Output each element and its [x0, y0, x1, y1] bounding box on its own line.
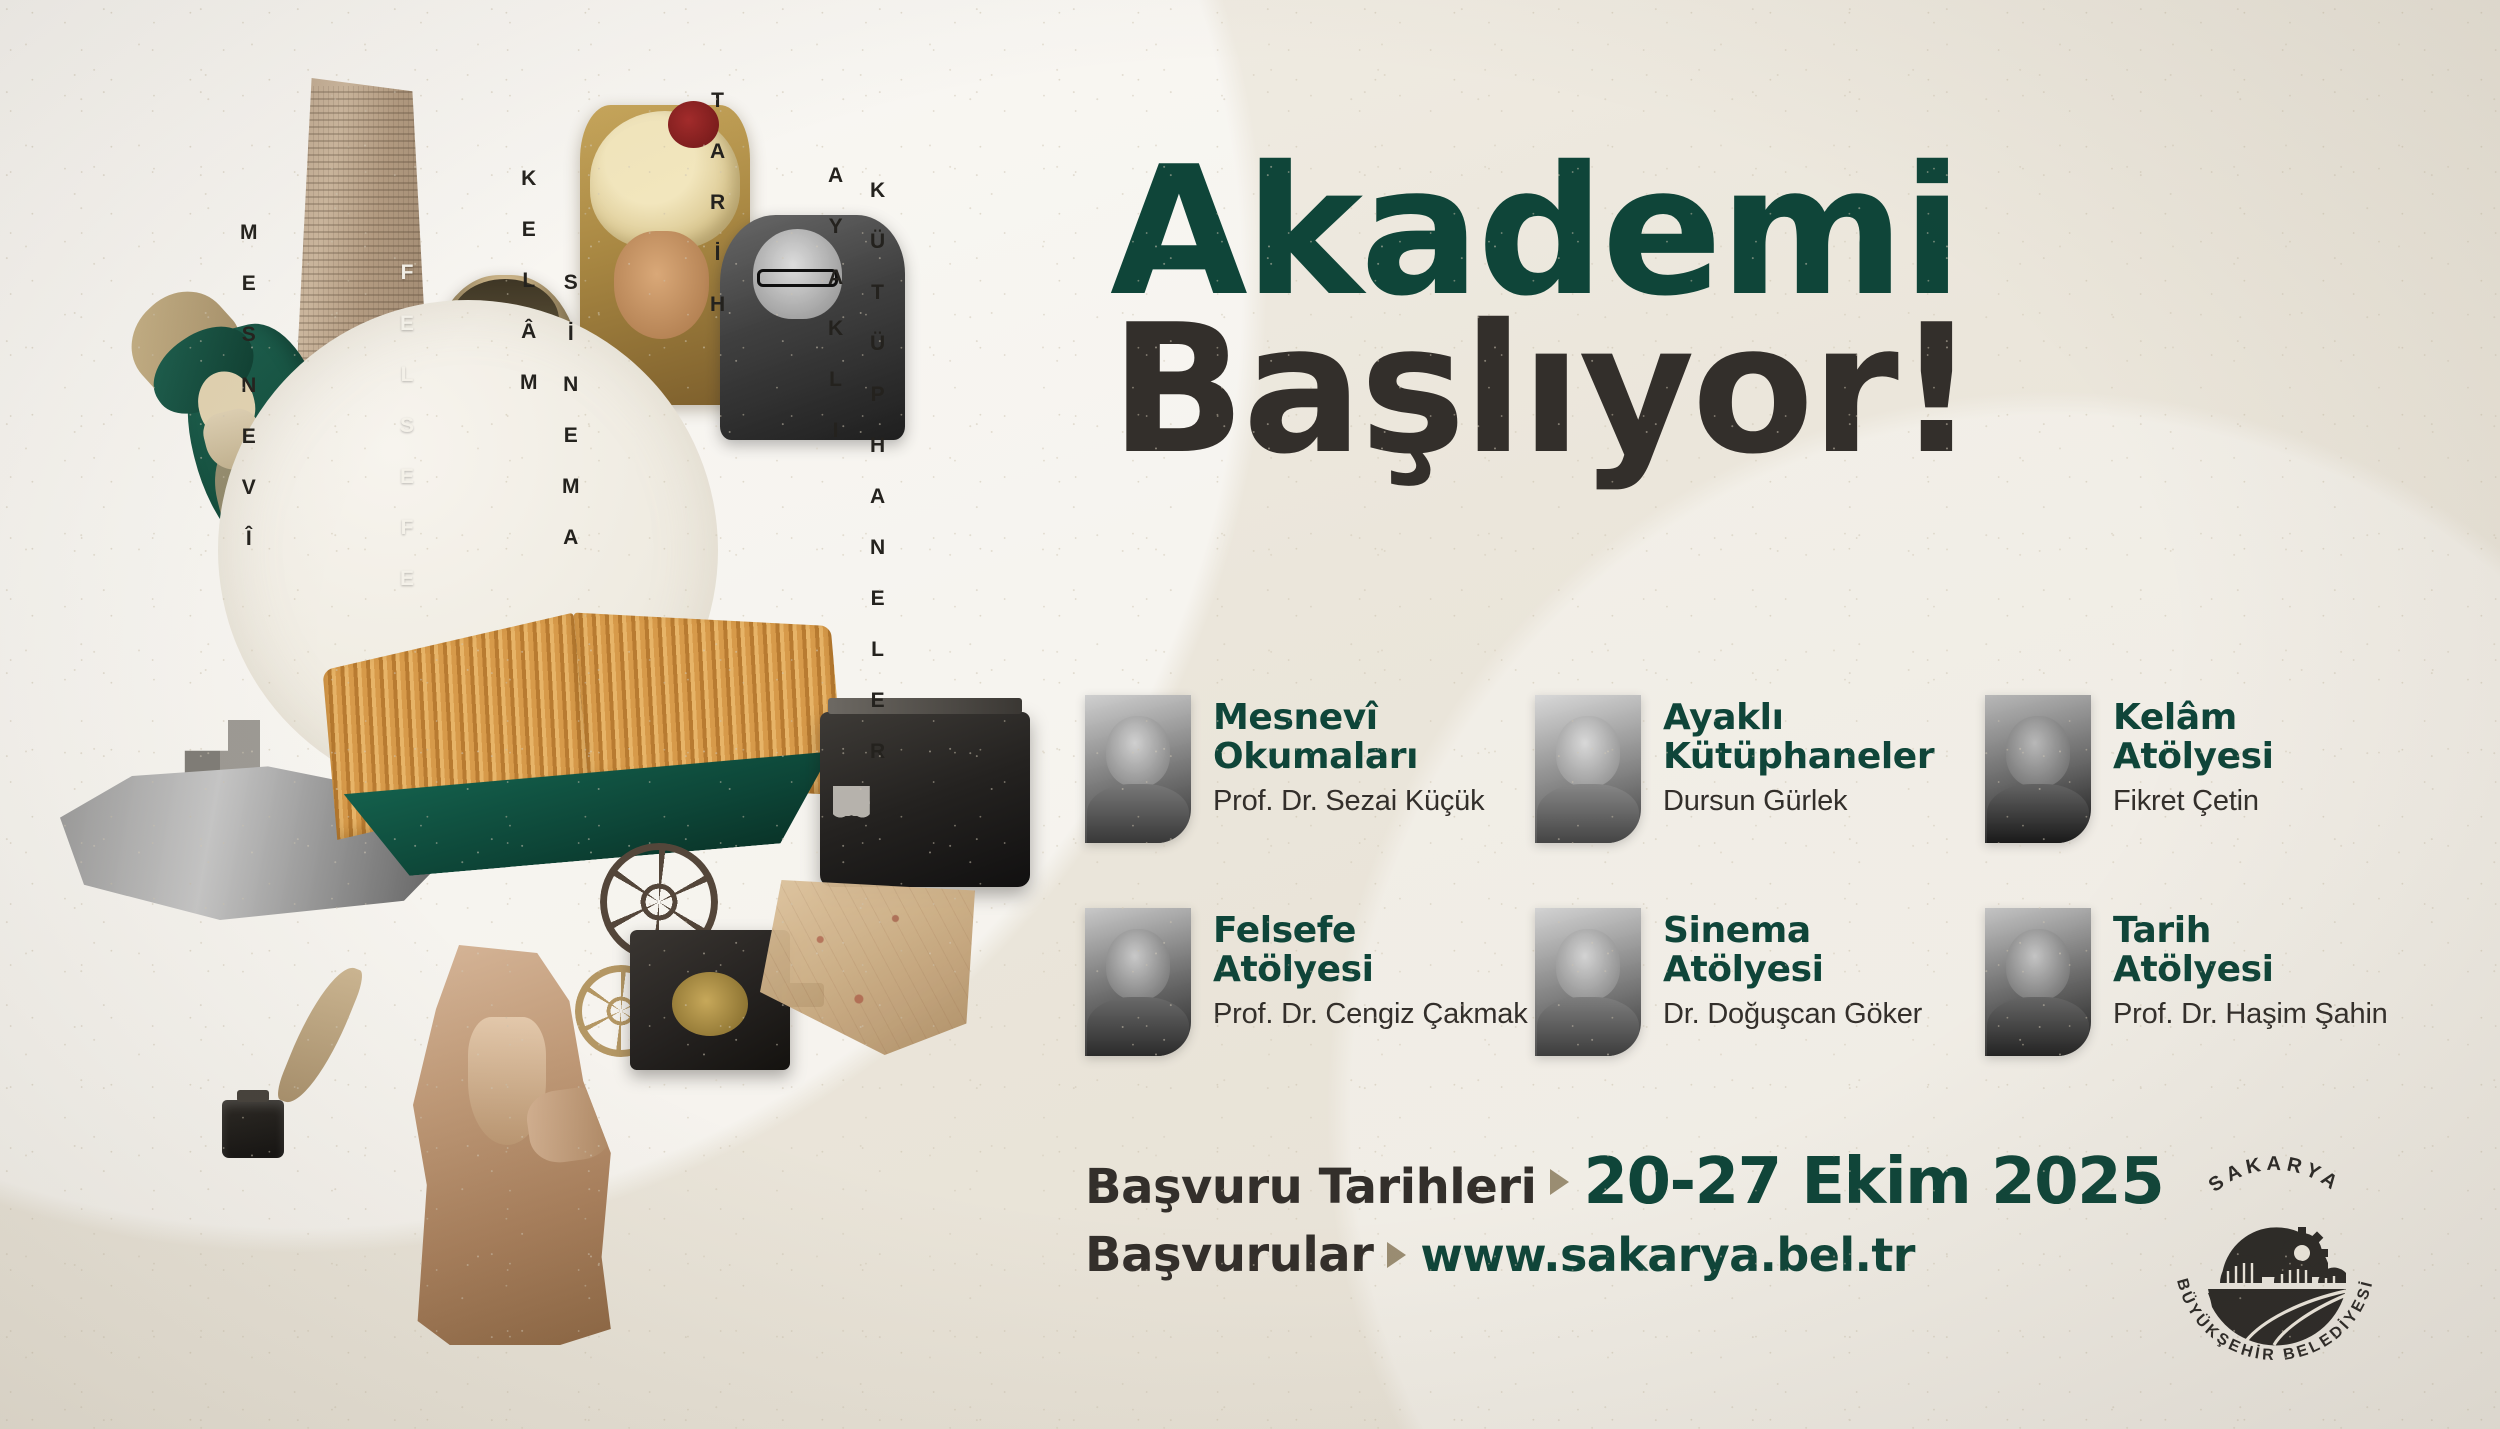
collage-letter: K: [521, 168, 537, 189]
open-book-image: [321, 608, 849, 882]
collage-letter: E: [564, 425, 579, 446]
arrow-right-icon: [1550, 1169, 1569, 1195]
collage-letter: L: [871, 639, 884, 660]
collage-letter: E: [871, 588, 886, 609]
application-dates-label: Başvuru Tarihleri: [1085, 1159, 1536, 1215]
collage-label-kelam: KELÂM: [520, 168, 538, 423]
application-url-row: Başvurular www.sakarya.bel.tr: [1085, 1227, 2185, 1283]
poster-canvas: و MESNEVÎ FELSEFE KELÂM SİNEMA TARİH: [0, 0, 2500, 1429]
antique-map-image: [760, 880, 975, 1055]
speaker-text: Kelâm AtölyesiFikret Çetin: [2113, 695, 2274, 818]
speaker-card[interactable]: Mesnevî OkumalarıProf. Dr. Sezai Küçük: [1085, 695, 1535, 908]
speaker-photo: [1985, 695, 2091, 843]
speaker-text: Felsefe AtölyesiProf. Dr. Cengiz Çakmak: [1213, 908, 1528, 1031]
speaker-head-shape: [2006, 929, 2070, 1000]
collage-letter: L: [522, 270, 535, 291]
speaker-workshop-title: Sinema Atölyesi: [1663, 912, 1922, 989]
collage-letter: F: [401, 517, 414, 538]
speaker-head-shape: [1556, 929, 1620, 1000]
collage-letter: K: [870, 180, 886, 201]
collage-letter: S: [400, 415, 415, 436]
speaker-text: Ayaklı KütüphanelerDursun Gürlek: [1663, 695, 1934, 818]
collage-letter: H: [710, 294, 726, 315]
collage-letter: A: [828, 165, 844, 186]
svg-text:SAKARYA: SAKARYA: [2205, 1153, 2346, 1197]
speaker-card[interactable]: Sinema AtölyesiDr. Doğuşcan Göker: [1535, 908, 1985, 1121]
speaker-body-shape: [1087, 784, 1189, 843]
collage-letter: E: [522, 219, 537, 240]
collage-letter: I: [833, 420, 839, 441]
speaker-workshop-title: Tarih Atölyesi: [2113, 912, 2388, 989]
collage-letter: İ: [568, 323, 574, 344]
collage-label-ayakli: AYAKLI: [828, 165, 844, 471]
speaker-body-shape: [1087, 997, 1189, 1056]
collage-label-felsefe: FELSEFE: [400, 262, 415, 619]
speaker-photo: [1085, 695, 1191, 843]
collage-letter: M: [520, 372, 538, 393]
speaker-card[interactable]: Ayaklı KütüphanelerDursun Gürlek: [1535, 695, 1985, 908]
applications-url[interactable]: www.sakarya.bel.tr: [1420, 1228, 1915, 1282]
sakarya-municipality-logo: SAKARYA BÜYÜKŞEHİR BELEDİYESİ: [2150, 1135, 2400, 1385]
typewriter-keys: [833, 786, 1018, 867]
speaker-text: Mesnevî OkumalarıProf. Dr. Sezai Küçük: [1213, 695, 1484, 818]
speaker-head-shape: [1556, 716, 1620, 787]
collage-letter: N: [870, 537, 886, 558]
footer-info: Başvuru Tarihleri 20-27 Ekim 2025 Başvur…: [1085, 1145, 2185, 1283]
speaker-workshop-title: Kelâm Atölyesi: [2113, 699, 2274, 776]
collage-letter: L: [401, 364, 414, 385]
vintage-typewriter-image: [820, 712, 1030, 887]
collage-letter: M: [562, 476, 580, 497]
collage-label-kutuphaneler: KÜTÜPHANELER: [870, 180, 886, 792]
collage-letter: N: [563, 374, 579, 395]
collage-letter: N: [241, 375, 257, 396]
speaker-name: Prof. Dr. Cengiz Çakmak: [1213, 998, 1528, 1031]
collage-letter: E: [400, 466, 415, 487]
speaker-name: Fikret Çetin: [2113, 785, 2274, 818]
collage-letter: R: [870, 741, 886, 762]
collage-letter: Ü: [870, 333, 886, 354]
collage-letter: İ: [715, 243, 721, 264]
film-projector-image: [630, 930, 790, 1070]
speaker-name: Dursun Gürlek: [1663, 785, 1934, 818]
speaker-card[interactable]: Tarih AtölyesiProf. Dr. Haşim Şahin: [1985, 908, 2435, 1121]
collage-letter: V: [242, 477, 257, 498]
collage-letter: F: [401, 262, 414, 283]
speaker-head-shape: [1106, 929, 1170, 1000]
speaker-photo: [1985, 908, 2091, 1056]
inkwell-icon: [222, 1100, 284, 1158]
speaker-name: Prof. Dr. Haşim Şahin: [2113, 998, 2388, 1031]
speaker-text: Tarih AtölyesiProf. Dr. Haşim Şahin: [2113, 908, 2388, 1031]
speaker-body-shape: [1537, 997, 1639, 1056]
application-dates-value: 20-27 Ekim 2025: [1583, 1145, 2163, 1219]
arrow-right-icon: [1387, 1242, 1406, 1268]
collage-letter: T: [871, 282, 884, 303]
application-dates-row: Başvuru Tarihleri 20-27 Ekim 2025: [1085, 1145, 2185, 1219]
collage-letter: Y: [829, 216, 844, 237]
speaker-photo: [1535, 695, 1641, 843]
glasses-icon: [757, 269, 838, 287]
headline-block: Akademi Başlıyor!: [1110, 150, 2370, 472]
speaker-workshop-title: Ayaklı Kütüphaneler: [1663, 699, 1934, 776]
collage-letter: A: [828, 267, 844, 288]
quill-pen-icon: [273, 958, 366, 1112]
collage-letter: K: [828, 318, 844, 339]
collage-letter: H: [870, 435, 886, 456]
collage-letter: E: [242, 426, 257, 447]
speaker-body-shape: [1987, 784, 2089, 843]
collage-letter: S: [242, 324, 257, 345]
speaker-workshop-title: Mesnevî Okumaları: [1213, 699, 1484, 776]
speaker-workshop-title: Felsefe Atölyesi: [1213, 912, 1528, 989]
page-title: Akademi Başlıyor!: [1110, 150, 2370, 472]
collage-letter: M: [240, 222, 258, 243]
applications-label: Başvurular: [1085, 1227, 1373, 1283]
typewriter-carriage: [828, 698, 1021, 714]
collage-label-tarih: TARİH: [710, 90, 726, 345]
collage-letter: Ü: [870, 231, 886, 252]
speaker-body-shape: [1537, 784, 1639, 843]
speaker-text: Sinema AtölyesiDr. Doğuşcan Göker: [1663, 908, 1922, 1031]
collage-letter: R: [710, 192, 726, 213]
collage-letter: E: [871, 690, 886, 711]
collage-letter: A: [710, 141, 726, 162]
collage-letter: Î: [246, 528, 252, 549]
collage-letter: T: [711, 90, 724, 111]
collage-artwork: و MESNEVÎ FELSEFE KELÂM SİNEMA TARİH: [0, 0, 1060, 1429]
collage-letter: S: [564, 272, 579, 293]
collage-letter: E: [242, 273, 257, 294]
speaker-head-shape: [1106, 716, 1170, 787]
speaker-card[interactable]: Felsefe AtölyesiProf. Dr. Cengiz Çakmak: [1085, 908, 1535, 1121]
speaker-card[interactable]: Kelâm AtölyesiFikret Çetin: [1985, 695, 2435, 908]
headline-line-2: Başlıyor!: [1110, 308, 2370, 472]
speaker-name: Prof. Dr. Sezai Küçük: [1213, 785, 1484, 818]
collage-label-mesnevi: MESNEVÎ: [240, 222, 258, 579]
speaker-name: Dr. Doğuşcan Göker: [1663, 998, 1922, 1031]
collage-letter: Â: [521, 321, 537, 342]
speaker-body-shape: [1987, 997, 2089, 1056]
collage-letter: E: [400, 568, 415, 589]
collage-letter: L: [829, 369, 842, 390]
speaker-photo: [1085, 908, 1191, 1056]
speaker-head-shape: [2006, 716, 2070, 787]
speaker-photo: [1535, 908, 1641, 1056]
collage-letter: A: [563, 527, 579, 548]
speakers-grid: Mesnevî OkumalarıProf. Dr. Sezai KüçükAy…: [1085, 695, 2425, 1121]
collage-letter: A: [870, 486, 886, 507]
face-shape: [614, 231, 709, 339]
collage-label-sinema: SİNEMA: [562, 272, 580, 578]
collage-letter: P: [871, 384, 886, 405]
collage-letter: E: [400, 313, 415, 334]
